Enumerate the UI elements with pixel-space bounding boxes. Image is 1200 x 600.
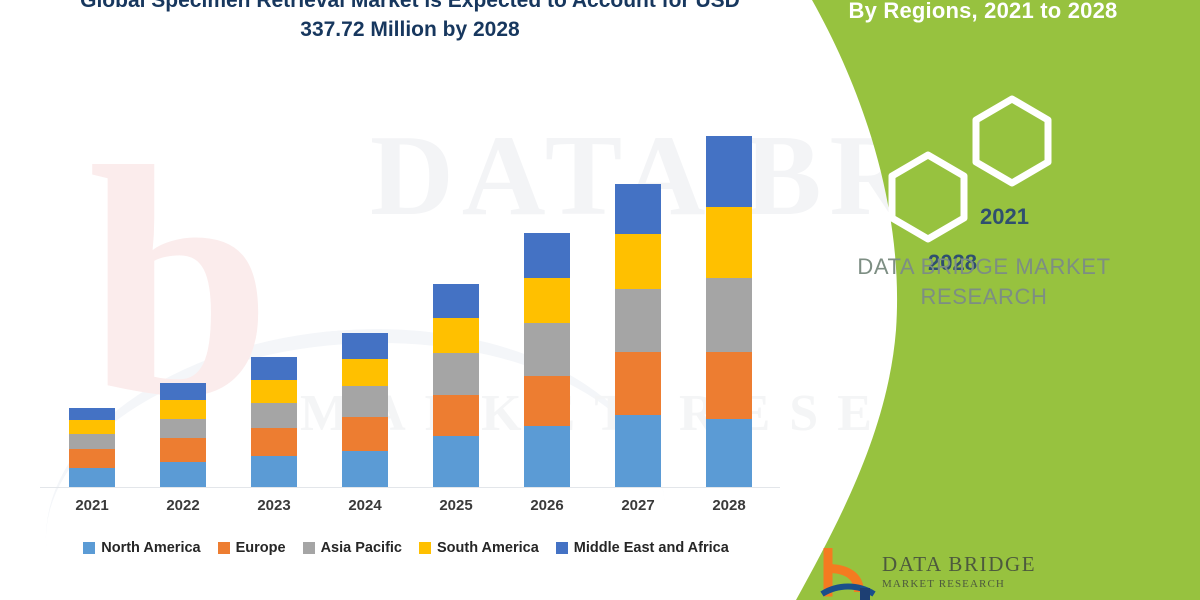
segment-middle-east-and-africa-2021 [69,408,115,420]
legend-label: Europe [236,540,286,556]
segment-middle-east-and-africa-2025 [433,284,479,318]
segment-middle-east-and-africa-2023 [251,357,297,380]
segment-north-america-2021 [69,468,115,487]
bridge-logo-icon [820,548,878,600]
bar-2022 [160,383,206,487]
segment-north-america-2025 [433,436,479,487]
legend-label: Middle East and Africa [574,540,729,556]
brand-line-1: DATA BRIDGE MARKET [857,254,1110,279]
x-label-2026: 2026 [502,497,592,514]
segment-south-america-2026 [524,278,570,323]
segment-south-america-2022 [160,400,206,419]
segment-south-america-2025 [433,318,479,353]
segment-asia-pacific-2028 [706,278,752,352]
segment-south-america-2024 [342,359,388,386]
segment-south-america-2021 [69,420,115,434]
bar-2028 [706,136,752,487]
legend-item-south-america[interactable]: South America [419,540,539,556]
legend-label: South America [437,540,539,556]
x-label-2028: 2028 [684,497,774,514]
infographic-canvas: b DATA BRIDGE MARKET RESEARCH By Regions… [0,0,1200,600]
brand-line-2: RESEARCH [920,284,1047,309]
segment-north-america-2023 [251,456,297,487]
segment-north-america-2022 [160,462,206,487]
segment-middle-east-and-africa-2027 [615,184,661,234]
legend-item-north-america[interactable]: North America [83,540,200,556]
segment-middle-east-and-africa-2024 [342,333,388,359]
chart-baseline [40,487,780,488]
company-logo: DATA BRIDGE MARKET RESEARCH [820,548,1080,600]
segment-europe-2022 [160,438,206,462]
legend-label: Asia Pacific [321,540,402,556]
bar-2023 [251,357,297,487]
stacked-bar-chart: 20212022202320242025202620272028 North A… [0,0,812,600]
segment-asia-pacific-2024 [342,386,388,417]
bar-2021 [69,408,115,487]
legend-swatch-icon [419,542,431,554]
chart-legend: North AmericaEuropeAsia PacificSouth Ame… [0,540,812,556]
segment-europe-2026 [524,376,570,426]
hexagon-2021 [976,99,1048,183]
hexagon-group: 2021 2028 [780,82,1200,222]
segment-middle-east-and-africa-2028 [706,136,752,207]
hexagon-2021-label: 2021 [980,204,1029,230]
segment-middle-east-and-africa-2026 [524,233,570,278]
segment-north-america-2028 [706,419,752,487]
legend-label: North America [101,540,200,556]
legend-swatch-icon [303,542,315,554]
segment-asia-pacific-2023 [251,403,297,428]
segment-north-america-2027 [615,415,661,487]
brand-name: DATA BRIDGE MARKET RESEARCH [780,252,1188,312]
segment-europe-2021 [69,449,115,468]
segment-asia-pacific-2027 [615,289,661,352]
bar-2024 [342,333,388,487]
segment-europe-2025 [433,395,479,436]
segment-asia-pacific-2026 [524,323,570,376]
segment-south-america-2023 [251,380,297,403]
bar-2025 [433,284,479,487]
legend-swatch-icon [83,542,95,554]
legend-swatch-icon [218,542,230,554]
x-label-2023: 2023 [229,497,319,514]
legend-item-asia-pacific[interactable]: Asia Pacific [303,540,402,556]
segment-asia-pacific-2022 [160,419,206,438]
hexagon-2028 [892,155,964,239]
x-label-2027: 2027 [593,497,683,514]
panel-title: By Regions, 2021 to 2028 [780,0,1186,24]
segment-europe-2028 [706,352,752,419]
segment-europe-2023 [251,428,297,456]
bar-2027 [615,184,661,487]
segment-south-america-2028 [706,207,752,278]
x-label-2022: 2022 [138,497,228,514]
x-label-2024: 2024 [320,497,410,514]
segment-asia-pacific-2021 [69,434,115,449]
bar-2026 [524,233,570,487]
segment-north-america-2024 [342,451,388,487]
x-label-2025: 2025 [411,497,501,514]
logo-name: DATA BRIDGE [882,552,1036,577]
x-label-2021: 2021 [47,497,137,514]
segment-europe-2027 [615,352,661,415]
segment-asia-pacific-2025 [433,353,479,395]
regions-panel: By Regions, 2021 to 2028 2021 2028 DATA … [780,0,1200,600]
legend-item-europe[interactable]: Europe [218,540,286,556]
segment-south-america-2027 [615,234,661,289]
segment-middle-east-and-africa-2022 [160,383,206,400]
segment-north-america-2026 [524,426,570,487]
legend-swatch-icon [556,542,568,554]
logo-tagline: MARKET RESEARCH [882,578,1005,590]
legend-item-middle-east-and-africa[interactable]: Middle East and Africa [556,540,729,556]
segment-europe-2024 [342,417,388,451]
